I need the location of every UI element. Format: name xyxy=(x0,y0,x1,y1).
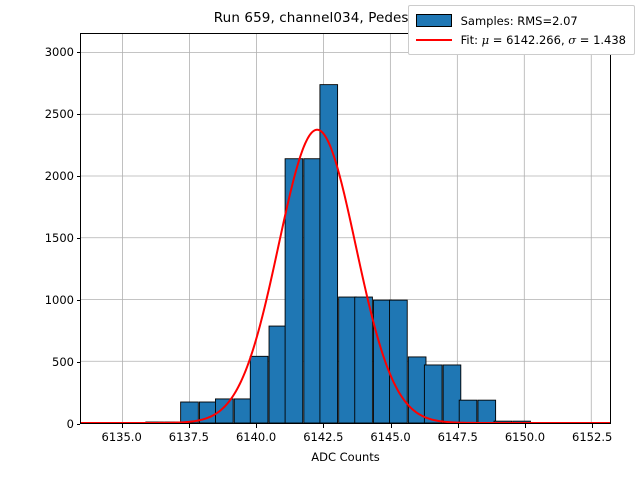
data-layer xyxy=(81,34,610,423)
legend-fit-sigma-value: = 1.438 xyxy=(576,33,626,47)
y-tick-mark xyxy=(77,424,81,425)
legend-entry-samples: Samples: RMS=2.07 xyxy=(416,11,626,30)
x-tick-mark xyxy=(391,424,392,428)
x-tick-label: 6150.0 xyxy=(505,430,545,444)
y-tick-label: 500 xyxy=(36,355,74,369)
x-tick-mark xyxy=(592,424,593,428)
x-tick-mark xyxy=(323,424,324,428)
histogram-and-fit xyxy=(81,34,610,423)
legend-fit-sigma-symbol: σ xyxy=(568,33,576,47)
y-tick-mark xyxy=(77,114,81,115)
x-tick-label: 6145.0 xyxy=(370,430,410,444)
y-tick-mark xyxy=(77,52,81,53)
x-tick-label: 6152.5 xyxy=(572,430,612,444)
legend-fit-prefix: Fit: xyxy=(461,33,482,47)
x-tick-label: 6147.5 xyxy=(438,430,478,444)
legend-entry-fit: Fit: μ = 6142.266, σ = 1.438 xyxy=(416,30,626,49)
plot-axes xyxy=(80,33,611,424)
legend-patch-swatch xyxy=(416,14,452,27)
chart-legend: Samples: RMS=2.07 Fit: μ = 6142.266, σ =… xyxy=(408,5,635,55)
y-tick-label: 2000 xyxy=(36,169,74,183)
x-tick-mark xyxy=(458,424,459,428)
x-tick-mark xyxy=(122,424,123,428)
x-tick-label: 6135.0 xyxy=(102,430,142,444)
legend-label-fit: Fit: μ = 6142.266, σ = 1.438 xyxy=(461,33,626,47)
legend-label-samples: Samples: RMS=2.07 xyxy=(461,14,578,28)
x-tick-label: 6137.5 xyxy=(169,430,209,444)
legend-line-swatch xyxy=(416,33,452,46)
matplotlib-figure: Run 659, channel034, Pedestal 6135.06137… xyxy=(0,0,640,480)
x-tick-label: 6140.0 xyxy=(236,430,276,444)
x-tick-label: 6142.5 xyxy=(303,430,343,444)
x-tick-mark xyxy=(256,424,257,428)
y-tick-mark xyxy=(77,176,81,177)
y-tick-label: 0 xyxy=(36,417,74,431)
legend-fit-mu-value: = 6142.266, xyxy=(489,33,568,47)
x-tick-mark xyxy=(189,424,190,428)
y-tick-mark xyxy=(77,362,81,363)
y-tick-mark xyxy=(77,300,81,301)
y-tick-mark xyxy=(77,238,81,239)
x-tick-mark xyxy=(525,424,526,428)
legend-fit-mu-symbol: μ xyxy=(482,33,489,47)
y-tick-label: 2500 xyxy=(36,107,74,121)
y-tick-label: 3000 xyxy=(36,45,74,59)
y-tick-label: 1500 xyxy=(36,231,74,245)
y-tick-label: 1000 xyxy=(36,293,74,307)
x-axis-label: ADC Counts xyxy=(80,450,611,464)
